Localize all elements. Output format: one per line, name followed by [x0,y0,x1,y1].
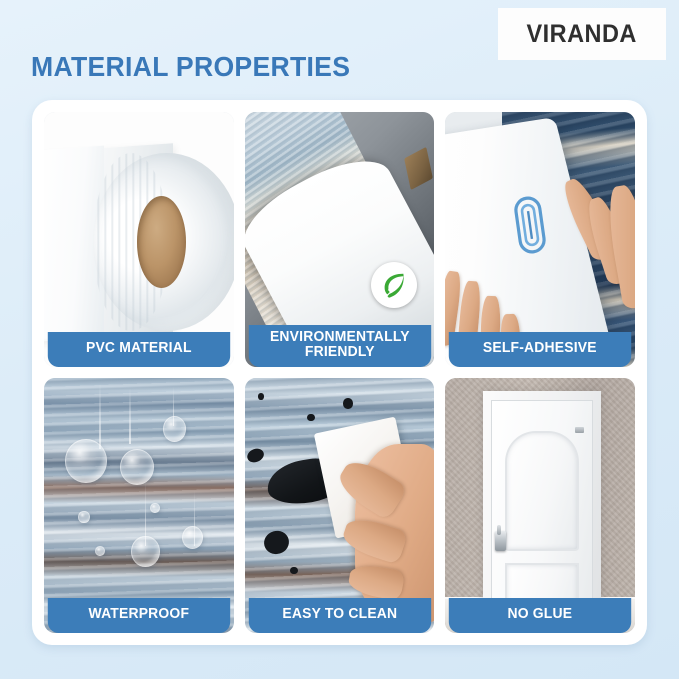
feature-card-environmentally-friendly[interactable]: ENVIRONMENTALLY FRIENDLY [245,112,435,367]
card-label-easy-to-clean: EASY TO CLEAN [248,598,430,633]
feature-card-easy-to-clean[interactable]: EASY TO CLEAN [245,378,435,633]
hand-right [567,173,635,316]
card-label-line2: FRIENDLY [305,344,375,360]
features-panel: PVC MATERIAL ENVIRONMEN [32,100,647,645]
feature-card-waterproof[interactable]: WATERPROOF [44,378,234,633]
easy-to-clean-photo [245,378,435,633]
card-label-line1: ENVIRONMENTALLY [270,329,410,345]
waterproof-photo [44,378,234,633]
no-glue-photo [445,378,635,633]
feature-card-self-adhesive[interactable]: SELF-ADHESIVE [445,112,635,367]
paperclip-icon [506,191,554,258]
pvc-roll-photo [44,112,234,367]
feature-card-pvc-material[interactable]: PVC MATERIAL [44,112,234,367]
brand-name: VIRANDA [527,20,637,49]
card-label-environmentally-friendly: ENVIRONMENTALLY FRIENDLY [248,325,430,367]
page-title: MATERIAL PROPERTIES [31,51,350,83]
card-label-self-adhesive: SELF-ADHESIVE [449,332,631,367]
self-adhesive-photo [445,112,635,367]
features-grid: PVC MATERIAL ENVIRONMEN [44,112,635,633]
door-handle [495,531,506,552]
card-label-pvc-material: PVC MATERIAL [48,332,230,367]
feature-card-no-glue[interactable]: NO GLUE [445,378,635,633]
brand-badge: VIRANDA [498,8,666,60]
card-label-waterproof: WATERPROOF [48,598,230,633]
card-label-no-glue: NO GLUE [449,598,631,633]
hand-holding-cloth [355,444,435,623]
